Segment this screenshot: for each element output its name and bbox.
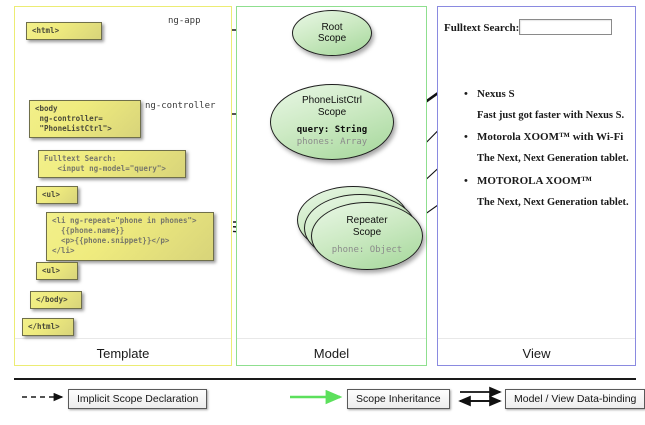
panel-view-label: View — [438, 346, 635, 361]
phone-item-name-2: MOTOROLA XOOM™ — [477, 175, 592, 187]
scope-repeater: Repeater Scope phone: Object — [311, 202, 423, 270]
edge-label-ng-app: ng-app — [168, 16, 201, 26]
scope-phonelistctrl-title-2: Scope — [318, 107, 346, 119]
legend-item-scope-inheritance: Scope Inheritance — [347, 389, 450, 409]
scope-root: Root Scope — [292, 10, 372, 56]
panel-divider — [438, 338, 635, 339]
scope-phonelistctrl: PhoneListCtrl Scope query: String phones… — [270, 84, 394, 160]
scope-repeater-prop-phone: phone: Object — [332, 245, 402, 257]
phone-item-name-1: Motorola XOOM™ with Wi-Fi — [477, 131, 623, 143]
scope-repeater-title-2: Scope — [353, 227, 381, 239]
scope-phonelistctrl-prop-query: query: String — [297, 125, 367, 137]
code-block-ul-close: <ul> — [36, 262, 78, 280]
edge-label-ng-controller: ng-controller — [145, 101, 215, 111]
legend-arrow-databinding — [460, 392, 500, 401]
fulltext-search-input[interactable] — [519, 19, 612, 35]
scope-phonelistctrl-title-1: PhoneListCtrl — [302, 95, 362, 107]
phone-item-snippet-1: The Next, Next Generation tablet. — [477, 153, 629, 164]
scope-phonelistctrl-prop-phones: phones: Array — [297, 137, 367, 149]
legend-item-model-view-data-binding: Model / View Data-binding — [505, 389, 645, 409]
code-block-html-open: <html> — [26, 22, 102, 40]
phone-item-snippet-2: The Next, Next Generation tablet. — [477, 197, 629, 208]
panel-divider — [15, 338, 231, 339]
scope-root-title-1: Root — [321, 22, 342, 34]
panel-model-label: Model — [237, 346, 426, 361]
angularjs-architecture-diagram: Template <html> <body ng-controller= "Ph… — [0, 0, 645, 425]
scope-root-title-2: Scope — [318, 33, 346, 45]
code-block-body-open: <body ng-controller= "PhoneListCtrl"> — [29, 100, 141, 138]
code-block-html-close: </html> — [22, 318, 74, 336]
code-block-body-close: </body> — [30, 291, 82, 309]
phone-item-name-0: Nexus S — [477, 88, 515, 100]
legend-divider — [14, 378, 636, 380]
code-block-search-input: Fulltext Search: <input ng-model="query"… — [38, 150, 186, 178]
panel-model: Model — [236, 6, 427, 366]
phone-item-snippet-0: Fast just got faster with Nexus S. — [477, 110, 624, 121]
legend-item-implicit-scope-declaration: Implicit Scope Declaration — [68, 389, 207, 409]
scope-repeater-title-1: Repeater — [346, 215, 387, 227]
code-block-ul-open: <ul> — [36, 186, 78, 204]
fulltext-search-label: Fulltext Search: — [444, 22, 519, 34]
panel-divider — [237, 338, 426, 339]
code-block-li-repeat: <li ng-repeat="phone in phones"> {{phone… — [46, 212, 214, 261]
panel-template-label: Template — [15, 346, 231, 361]
